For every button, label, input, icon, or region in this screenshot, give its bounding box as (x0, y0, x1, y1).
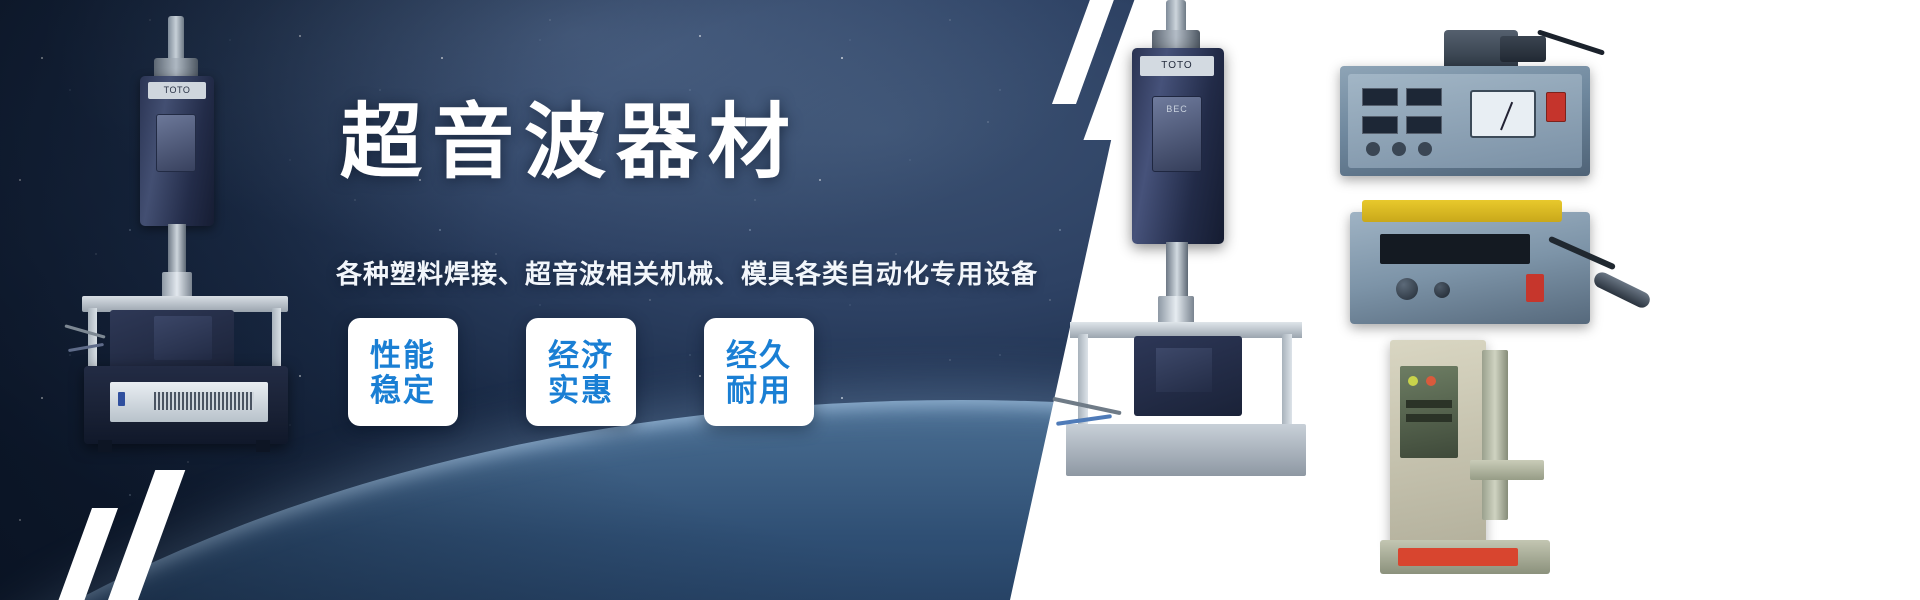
press-body (1350, 212, 1590, 324)
generator-knob-3 (1418, 142, 1432, 156)
tall-welder-arm (1470, 460, 1544, 480)
generator-cable (1537, 29, 1605, 55)
tall-welder-slot-1 (1406, 400, 1452, 408)
tall-welder-slot-2 (1406, 414, 1452, 422)
press-knob-small (1434, 282, 1450, 298)
feature-badge-economy-line2: 实惠 (548, 373, 614, 408)
generator-transducer-tip (1500, 36, 1546, 62)
product-photo-press-unit (1350, 190, 1650, 340)
press-stop-button (1526, 274, 1544, 302)
feature-badge-economy[interactable]: 经济 实惠 (526, 318, 636, 426)
generator-display-3 (1362, 116, 1398, 134)
generator-power-switch (1546, 92, 1566, 122)
product-photo-tall-welder (1370, 340, 1590, 600)
feature-badge-performance-line2: 稳定 (370, 373, 436, 408)
generator-analog-meter (1470, 90, 1536, 138)
feature-badge-performance-line1: 性能 (370, 338, 436, 373)
press-top-cover (1362, 200, 1562, 222)
generator-knob-1 (1366, 142, 1380, 156)
right-welder-column-left (1078, 334, 1088, 430)
right-welder-fixture-inner (1156, 348, 1212, 392)
right-welder-display-text: BEC (1152, 104, 1202, 114)
right-welder-column-right (1282, 334, 1292, 430)
tall-welder-lamp-1 (1408, 376, 1418, 386)
tall-welder-label (1398, 548, 1518, 566)
right-welder-shaft (1166, 242, 1188, 304)
feature-badge-economy-line1: 经济 (548, 338, 614, 373)
product-photo-generator (1340, 30, 1620, 180)
feature-badge-performance[interactable]: 性能 稳定 (348, 318, 458, 426)
banner-title: 超音波器材 (340, 100, 1020, 186)
product-photo-right-welder: TOTO BEC (1060, 0, 1310, 530)
right-welder-brand-label: TOTO (1140, 56, 1214, 76)
right-welder-horn (1158, 296, 1194, 324)
promo-banner: TOTO TOTO BEC (0, 0, 1920, 600)
right-welder-ram (1166, 0, 1186, 34)
generator-display-4 (1406, 116, 1442, 134)
feature-badge-durability-line2: 耐用 (726, 373, 792, 408)
press-knob-large (1396, 278, 1418, 300)
banner-text-block: 超音波器材 各种塑料焊接、超音波相关机械、模具各类自动化专用设备 性能 稳定 经… (0, 0, 1060, 600)
banner-subtitle: 各种塑料焊接、超音波相关机械、模具各类自动化专用设备 (336, 254, 1036, 291)
generator-knob-2 (1392, 142, 1406, 156)
feature-badge-list: 性能 稳定 经济 实惠 经久 耐用 (348, 318, 814, 426)
right-welder-base (1066, 424, 1306, 476)
press-handpiece (1592, 270, 1653, 311)
press-opening (1380, 234, 1530, 264)
tall-welder-lamp-2 (1426, 376, 1436, 386)
generator-display-2 (1406, 88, 1442, 106)
generator-display-1 (1362, 88, 1398, 106)
feature-badge-durability[interactable]: 经久 耐用 (704, 318, 814, 426)
feature-badge-durability-line1: 经久 (726, 338, 792, 373)
tall-welder-column (1482, 350, 1508, 520)
